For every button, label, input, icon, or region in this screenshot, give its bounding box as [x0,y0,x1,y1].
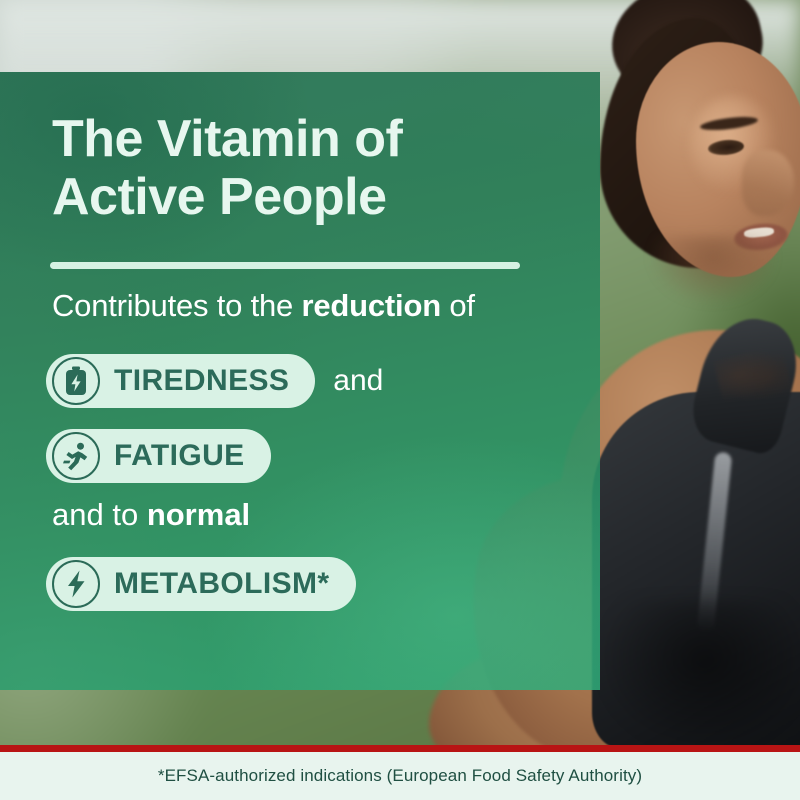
accent-rule [0,745,800,752]
claim-badge-fatigue[interactable]: FATIGUE [46,429,271,483]
headline-line-2: Active People [52,168,387,226]
claim-row-tiredness: TIREDNESS and [46,354,383,408]
subheading-emphasis: reduction [302,288,441,323]
lightning-bolt-icon [52,560,100,608]
headline-line-1: The Vitamin of [52,110,402,168]
battery-bolt-icon [52,357,100,405]
subheading: Contributes to the reduction of [52,288,572,324]
message-content: The Vitamin of Active People Contributes… [0,72,600,690]
normal-line-prefix: and to [52,497,147,532]
normal-metabolism-lead: and to normal [52,497,250,533]
claim-label-fatigue: FATIGUE [114,439,245,473]
normal-line-emphasis: normal [147,497,250,532]
page-title: The Vitamin of Active People [52,110,552,226]
footer-bar: *EFSA-authorized indications (European F… [0,752,800,800]
footer-disclaimer: *EFSA-authorized indications (European F… [158,766,642,786]
claim-label-metabolism: METABOLISM* [114,567,330,601]
subheading-suffix: of [441,288,475,323]
claim-badge-metabolism[interactable]: METABOLISM* [46,557,356,611]
claim-row-fatigue: FATIGUE [46,429,271,483]
conjunction-and: and [333,364,383,398]
torso-shadow [600,600,800,745]
subheading-prefix: Contributes to the [52,288,302,323]
jaw-shadow [648,236,778,306]
promotional-poster: The Vitamin of Active People Contributes… [0,0,800,800]
claim-badge-tiredness[interactable]: TIREDNESS [46,354,315,408]
runner-icon [52,432,100,480]
claim-row-metabolism: METABOLISM* [46,557,356,611]
claim-label-tiredness: TIREDNESS [114,364,289,398]
divider [50,262,520,269]
